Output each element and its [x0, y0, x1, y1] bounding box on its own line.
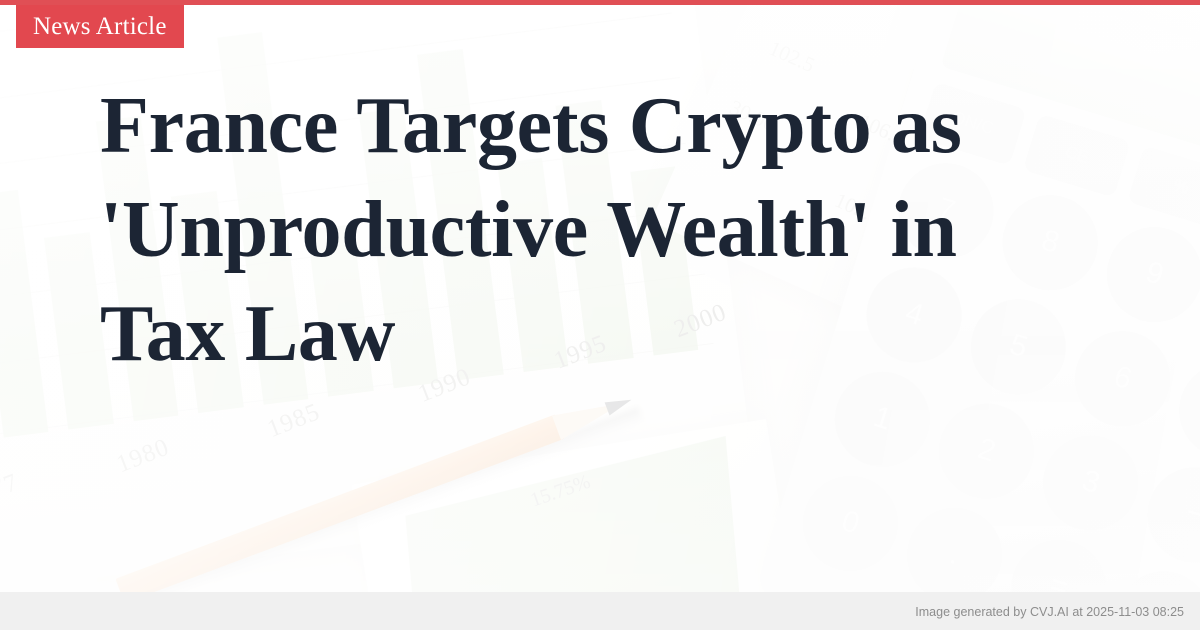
page-title: France Targets Crypto as 'Unproductive W… [100, 74, 1030, 386]
og-card: 1977 1980 1985 1990 1995 2000 102.5 106.… [0, 0, 1200, 630]
image-credit: Image generated by CVJ.AI at 2025-11-03 … [915, 605, 1184, 619]
category-badge: News Article [16, 5, 184, 48]
